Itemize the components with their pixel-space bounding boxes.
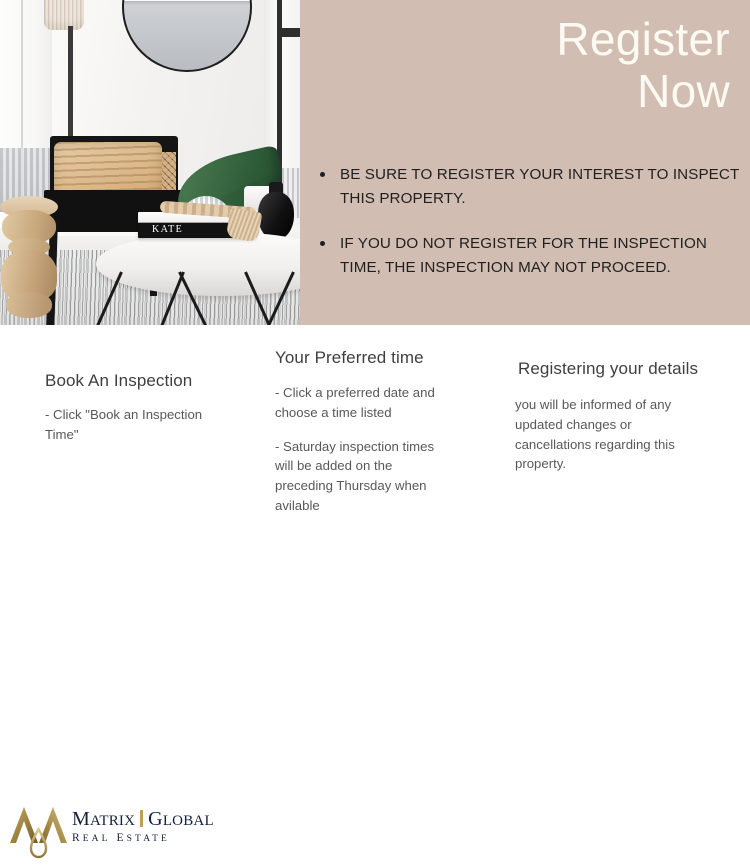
instructions-section: Book An Inspection - Click "Book an Insp…: [0, 325, 750, 563]
photo-table-leg: [155, 271, 185, 325]
photo-right-window-sill: [278, 28, 300, 37]
column-heading-your-preferred-time: Your Preferred time: [275, 348, 424, 368]
logo-tagline-eal: EAL: [83, 834, 111, 844]
page-title: Register Now: [320, 14, 730, 117]
poster-canvas: KATE Register Now BE SURE TO REGISTER YO…: [0, 0, 750, 563]
photo-table-wire-legs: [116, 272, 300, 325]
column-paragraph: - Saturday inspection times will be adde…: [275, 437, 450, 516]
living-room-interior-photo: KATE: [0, 0, 300, 325]
page-title-line-1: Register: [320, 14, 730, 66]
logo-tagline: REAL ESTATE: [72, 832, 232, 844]
logo-tagline-r: R: [72, 832, 83, 844]
matrix-global-logo-mark-icon: [8, 803, 70, 861]
top-band: KATE Register Now BE SURE TO REGISTER YO…: [0, 0, 750, 325]
column-paragraph: you will be informed of any updated chan…: [515, 395, 700, 474]
logo-tagline-e: E: [117, 832, 127, 844]
column-heading-registering-your-details: Registering your details: [518, 359, 698, 379]
column-paragraph: - Click a preferred date and choose a ti…: [275, 383, 450, 423]
column-body-your-preferred-time: - Click a preferred date and choose a ti…: [275, 383, 450, 530]
photo-stool-segment: [6, 292, 52, 318]
photo-bead-tassel: [226, 207, 263, 242]
logo-name-atrix: ATRIX: [90, 813, 135, 829]
logo-name-m: M: [72, 808, 90, 830]
matrix-global-wordmark: MATRIXGLOBAL REAL ESTATE: [72, 809, 232, 844]
register-bullet-list: BE SURE TO REGISTER YOUR INTEREST TO INS…: [312, 163, 744, 301]
page-title-line-2: Now: [320, 66, 730, 118]
column-body-book-an-inspection: - Click "Book an Inspection Time": [45, 405, 225, 459]
logo-divider-bar: [140, 810, 143, 827]
matrix-global-logo: MATRIXGLOBAL REAL ESTATE: [8, 803, 233, 861]
photo-wooden-stool: [0, 196, 58, 325]
logo-name-g: G: [148, 808, 163, 830]
column-paragraph: - Click "Book an Inspection Time": [45, 405, 225, 445]
column-heading-book-an-inspection: Book An Inspection: [45, 371, 192, 391]
register-now-panel: Register Now BE SURE TO REGISTER YOUR IN…: [300, 0, 750, 325]
photo-black-vase: [258, 192, 294, 240]
list-item: IF YOU DO NOT REGISTER FOR THE INSPECTIO…: [312, 232, 744, 279]
photo-rattan-lamp-shade: [44, 0, 84, 30]
photo-book-title: KATE: [152, 224, 183, 235]
logo-name-lobal: LOBAL: [163, 813, 214, 829]
column-body-registering-your-details: you will be informed of any updated chan…: [515, 395, 700, 488]
list-item: BE SURE TO REGISTER YOUR INTEREST TO INS…: [312, 163, 744, 210]
photo-table-leg: [178, 271, 212, 325]
photo-mirror-reflection-shelf: [124, 0, 250, 1]
logo-m-droplet-icon: [8, 803, 70, 861]
logo-company-name: MATRIXGLOBAL: [72, 809, 232, 830]
logo-tagline-state: STATE: [127, 834, 170, 844]
